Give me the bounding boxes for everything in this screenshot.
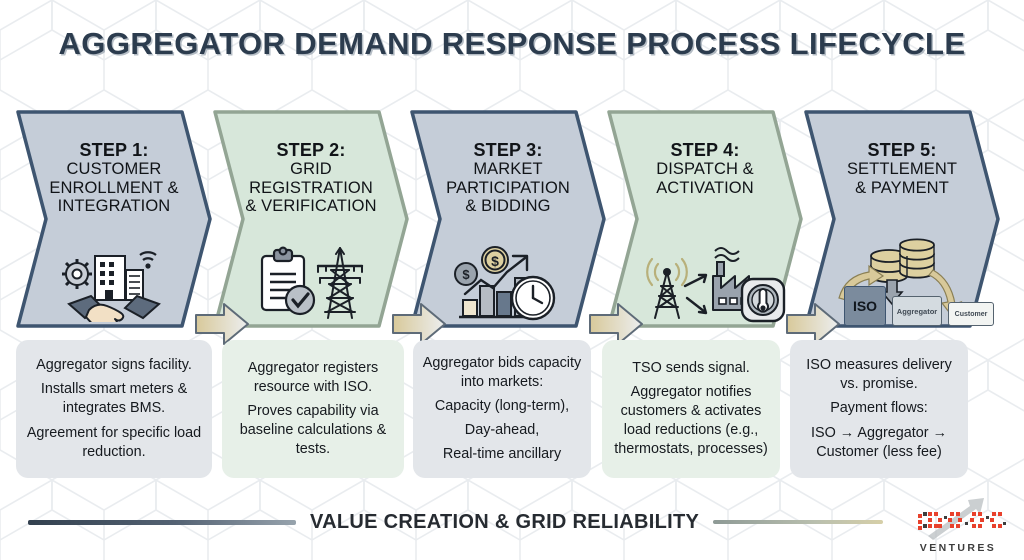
card-1-line-2: Installs smart meters & integrates BMS. <box>24 380 204 418</box>
node-customer: Customer <box>948 302 994 326</box>
iosg-logo-mark <box>906 498 1010 542</box>
card-1-line-1: Aggregator signs facility. <box>36 356 192 375</box>
step-number-3: STEP 3: <box>446 140 570 160</box>
clipboard-check-pylon-icon <box>252 244 370 322</box>
banner-rule-left <box>28 520 296 525</box>
node-aggregator: Aggregator <box>892 296 942 326</box>
card-4-line-1: TSO sends signal. <box>632 359 750 378</box>
node-aggregator-label: Aggregator <box>897 307 937 316</box>
card-3-line-4: Real-time ancillary <box>443 445 561 464</box>
step-card-4: TSO sends signal. Aggregator notifies cu… <box>602 340 780 478</box>
card-3-line-3: Day-ahead, <box>465 421 539 440</box>
step-title-5: SETTLEMENT & PAYMENT <box>847 160 957 197</box>
page-title: AGGREGATOR DEMAND RESPONSE PROCESS LIFEC… <box>0 26 1024 62</box>
coins-bar-chart-clock-icon: $ $ <box>449 244 567 322</box>
step-heading-4: STEP 4: DISPATCH & ACTIVATION <box>656 140 754 197</box>
process-steps-row: STEP 1: CUSTOMER ENROLLMENT & INTEGRATIO… <box>0 108 1024 333</box>
step-chevron-5[interactable]: STEP 5: SETTLEMENT & PAYMENT <box>804 108 1000 330</box>
logo[interactable]: VENTURES <box>906 498 1010 556</box>
step-chevron-3[interactable]: STEP 3: MARKET PARTICIPATION & BIDDING $… <box>410 108 606 330</box>
handshake-gear-building-icon <box>55 244 173 322</box>
thermostat-icon <box>739 276 787 324</box>
banner-rule-right <box>713 520 883 524</box>
step-title-1: CUSTOMER ENROLLMENT & INTEGRATION <box>49 160 178 215</box>
banner-text: VALUE CREATION & GRID RELIABILITY <box>296 511 713 534</box>
card-3-line-1: Aggregator bids capacity into markets: <box>421 354 583 392</box>
step-heading-3: STEP 3: MARKET PARTICIPATION & BIDDING <box>446 140 570 216</box>
step-description-cards: Aggregator signs facility. Installs smar… <box>0 340 1024 482</box>
step-title-4: DISPATCH & ACTIVATION <box>656 160 754 197</box>
step-heading-5: STEP 5: SETTLEMENT & PAYMENT <box>847 140 957 197</box>
card-3-line-2: Capacity (long-term), <box>435 397 569 416</box>
card-1-line-3: Agreement for specific load reduction. <box>24 424 204 462</box>
step-chevron-2[interactable]: STEP 2: GRID REGISTRATION & VERIFICATION <box>213 108 409 330</box>
step-title-3: MARKET PARTICIPATION & BIDDING <box>446 160 570 215</box>
card-5-line-1: ISO measures delivery vs. promise. <box>798 356 960 394</box>
step-card-2: Aggregator registers resource with ISO. … <box>222 340 404 478</box>
step-number-1: STEP 1: <box>49 140 178 160</box>
card-5-line-2: Payment flows: <box>830 399 928 418</box>
step-card-5: ISO measures delivery vs. promise. Payme… <box>790 340 968 478</box>
step-title-2: GRID REGISTRATION & VERIFICATION <box>245 160 376 215</box>
step-number-2: STEP 2: <box>245 140 376 160</box>
bottom-banner: VALUE CREATION & GRID RELIABILITY <box>0 500 1024 544</box>
logo-subtitle: VENTURES <box>906 542 1010 554</box>
card-5-line-3: ISO → Aggregator → Customer (less fee) <box>798 424 960 462</box>
svg-text:$: $ <box>462 267 470 282</box>
svg-text:$: $ <box>491 253 499 269</box>
card-2-line-1: Aggregator registers resource with ISO. <box>230 359 396 397</box>
node-iso-label: ISO <box>853 298 877 314</box>
step-chevron-1[interactable]: STEP 1: CUSTOMER ENROLLMENT & INTEGRATIO… <box>16 108 212 330</box>
step-card-3: Aggregator bids capacity into markets: C… <box>413 340 591 478</box>
infographic-root: AGGREGATOR DEMAND RESPONSE PROCESS LIFEC… <box>0 0 1024 560</box>
card-4-line-2: Aggregator notifies customers & activate… <box>610 383 772 459</box>
step-heading-2: STEP 2: GRID REGISTRATION & VERIFICATION <box>245 140 376 216</box>
step-heading-1: STEP 1: CUSTOMER ENROLLMENT & INTEGRATIO… <box>49 140 178 216</box>
node-iso: ISO <box>844 286 886 326</box>
step-number-5: STEP 5: <box>847 140 957 160</box>
payment-flow-nodes: ISO Aggregator Customer <box>844 286 994 326</box>
node-customer-label: Customer <box>955 311 988 318</box>
step-card-1: Aggregator signs facility. Installs smar… <box>16 340 212 478</box>
step-number-4: STEP 4: <box>656 140 754 160</box>
step-chevron-4[interactable]: STEP 4: DISPATCH & ACTIVATION <box>607 108 803 330</box>
card-2-line-2: Proves capability via baseline calculati… <box>230 402 396 459</box>
